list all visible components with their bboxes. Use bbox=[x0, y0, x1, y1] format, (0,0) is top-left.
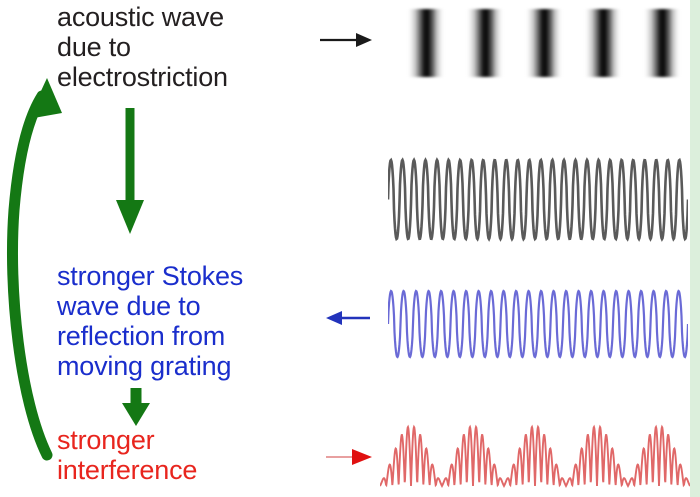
arrow-interference-to-acoustic bbox=[12, 78, 62, 455]
diagram-canvas: acoustic wave due to electrostriction st… bbox=[0, 0, 700, 497]
arrow-pointer-interference-right bbox=[326, 449, 372, 465]
arrow-acoustic-to-stokes bbox=[116, 108, 144, 234]
arrow-pointer-acoustic-right bbox=[320, 33, 372, 47]
arrow-pointer-stokes-left bbox=[326, 311, 370, 325]
arrow-layer bbox=[0, 0, 700, 497]
arrow-stokes-to-interference bbox=[122, 388, 150, 426]
